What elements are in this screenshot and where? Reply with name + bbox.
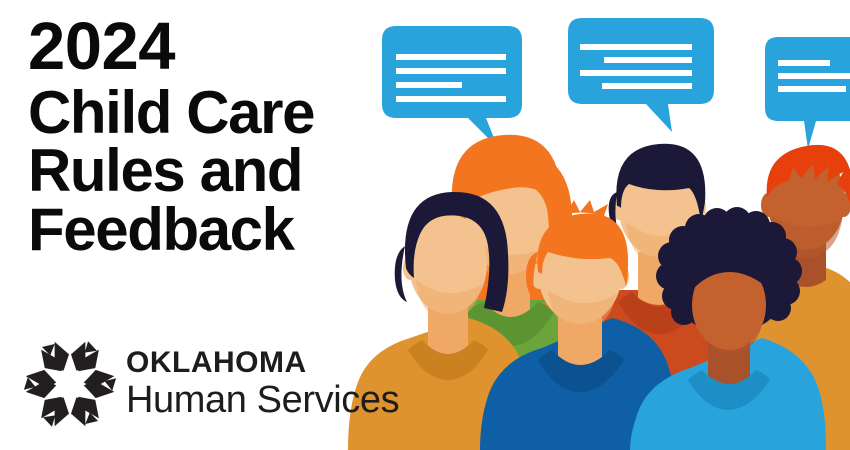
- page-title: 2024 Child Care Rules and Feedback: [28, 14, 398, 260]
- speech-bubble-right: [765, 37, 850, 149]
- logo-wordmark: OKLAHOMA Human Services: [126, 347, 399, 420]
- headline-line3: Feedback: [28, 201, 398, 260]
- headline-line2: Rules and: [28, 142, 398, 201]
- oklahoma-human-services-star-icon: [22, 336, 118, 432]
- speech-bubble-center: [568, 18, 714, 132]
- headline-year: 2024: [28, 14, 398, 80]
- logo-bottom-word: Human Services: [126, 381, 399, 421]
- logo-top-word: OKLAHOMA: [126, 347, 399, 379]
- organization-logo: OKLAHOMA Human Services: [22, 336, 399, 432]
- banner-root: 2024 Child Care Rules and Feedback: [0, 0, 850, 450]
- headline-line1: Child Care: [28, 84, 398, 143]
- speech-bubble-left: [382, 26, 522, 148]
